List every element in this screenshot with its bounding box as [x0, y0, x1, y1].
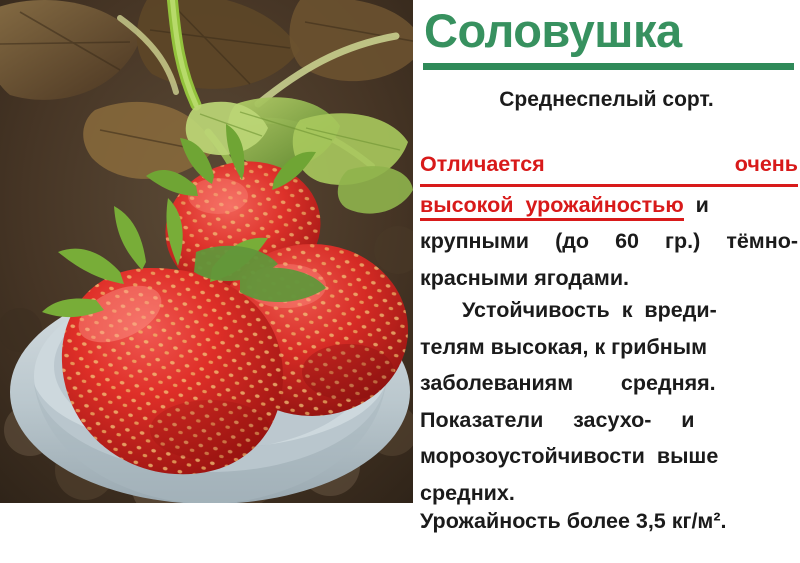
- resist-line-2: телям высокая, к грибным: [420, 329, 798, 366]
- paragraph-yield: Отличается очень высокой урожайностью и …: [420, 146, 798, 296]
- resist-line-1: Устойчивость к вреди-: [420, 292, 798, 329]
- page-title: Соловушка: [424, 4, 799, 58]
- resist-line-5: морозоустойчивости выше: [420, 438, 798, 475]
- resist-line-6: средних.: [420, 475, 798, 512]
- yield-line-3: крупными (до 60 гр.) тёмно-: [420, 223, 798, 260]
- strawberry-photo-illustration: [0, 0, 413, 503]
- photo-watermark: [14, 516, 244, 530]
- variety-info-card: Соловушка Среднеспелый сорт. Отличается …: [0, 0, 800, 563]
- resist-line-3: заболеваниям средняя.: [420, 365, 798, 402]
- subtitle: Среднеспелый сорт.: [413, 88, 800, 112]
- footer-yield-line: Урожайность более 3,5 кг/м².: [420, 509, 800, 534]
- paragraph-resistance: Устойчивость к вреди- телям высокая, к г…: [420, 292, 798, 511]
- highlight-line-2: высокой урожайностью: [420, 193, 684, 221]
- yield-tail: и: [684, 193, 709, 217]
- yield-line-4: красными ягодами.: [420, 260, 798, 297]
- strawberry-photo: [0, 0, 413, 503]
- text-column: Соловушка Среднеспелый сорт. Отличается …: [413, 0, 800, 563]
- resist-line-4: Показатели засухо- и: [420, 402, 798, 439]
- title-underline-rule: [423, 63, 794, 70]
- highlight-line-1: Отличается очень: [420, 146, 798, 187]
